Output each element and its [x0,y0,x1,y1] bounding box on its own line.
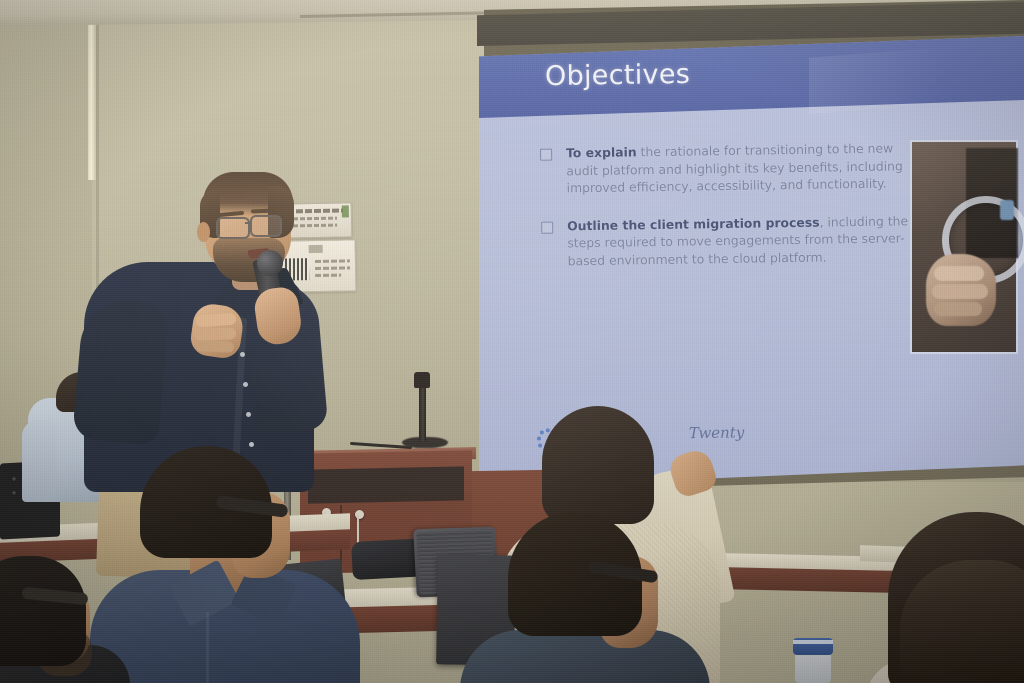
water-bottle-band [793,640,833,644]
slide-title: Objectives [545,59,691,92]
attendee-head [542,406,654,524]
shirt-button [243,382,248,387]
shirt-button [249,442,254,447]
presenter-ear [197,222,210,242]
slide-bullet-list: To explain the rationale for transitioni… [540,139,912,290]
checkbox-icon [540,149,552,161]
bullet-item: Outline the client migration process, in… [541,212,912,270]
photo-finger [932,284,988,299]
checkbox-icon [541,221,553,233]
person-arm [22,420,56,502]
shirt-button [240,352,245,357]
eyeglasses-icon [216,217,250,239]
bullet-lead: Outline the client migration process [567,214,820,233]
photo-blue-highlight [1000,200,1014,220]
presentation-photo: Objectives To explain the rationale for … [0,0,1024,683]
microphone-stand-clip [414,372,430,388]
projection-screen: Objectives To explain the rationale for … [455,0,1024,505]
logo-script-text: Twenty [689,423,745,442]
finger [194,327,236,340]
bullet-item: To explain the rationale for transitioni… [540,139,911,197]
eyeglasses-bridge [245,222,252,224]
eyeglasses-icon [250,215,282,237]
cabinet-open-shelf [308,466,464,503]
door-frame [88,2,96,180]
bullet-text: To explain the rationale for transitioni… [566,139,911,197]
photo-finger [934,302,982,316]
attendee-torso [460,630,710,683]
finger [196,340,234,352]
bullet-text: Outline the client migration process, in… [567,212,912,270]
hand-holding-device-photo [910,140,1018,354]
shirt-seam [206,612,209,683]
shirt-button [246,412,251,417]
microphone-stand-pole [419,383,426,441]
presenter-eyebrow [251,209,275,214]
photo-finger [934,266,984,281]
bullet-lead: To explain [566,144,637,160]
